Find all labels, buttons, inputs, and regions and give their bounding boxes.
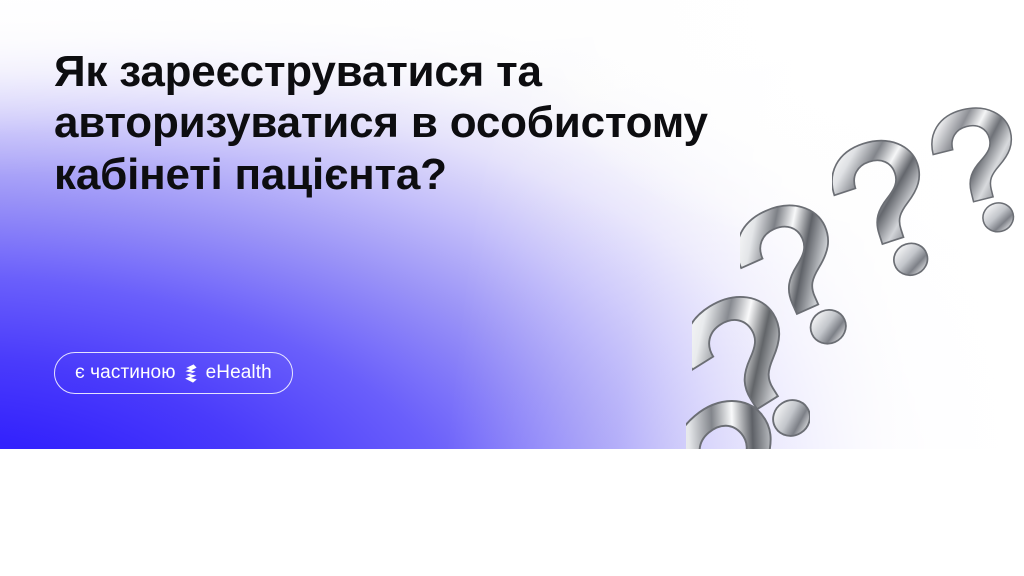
partner-logo-bar <box>0 449 1024 576</box>
badge-prefix-label: є частиною <box>75 362 176 384</box>
ehealth-zigzag-icon <box>184 364 198 383</box>
page-title: Як зареєструватися та авторизуватися в о… <box>54 46 814 200</box>
badge-brand-label: eHealth <box>206 362 272 384</box>
ehealth-badge[interactable]: є частиною eHealth <box>54 352 293 394</box>
promo-slide: Як зареєструватися та авторизуватися в о… <box>0 0 1024 576</box>
